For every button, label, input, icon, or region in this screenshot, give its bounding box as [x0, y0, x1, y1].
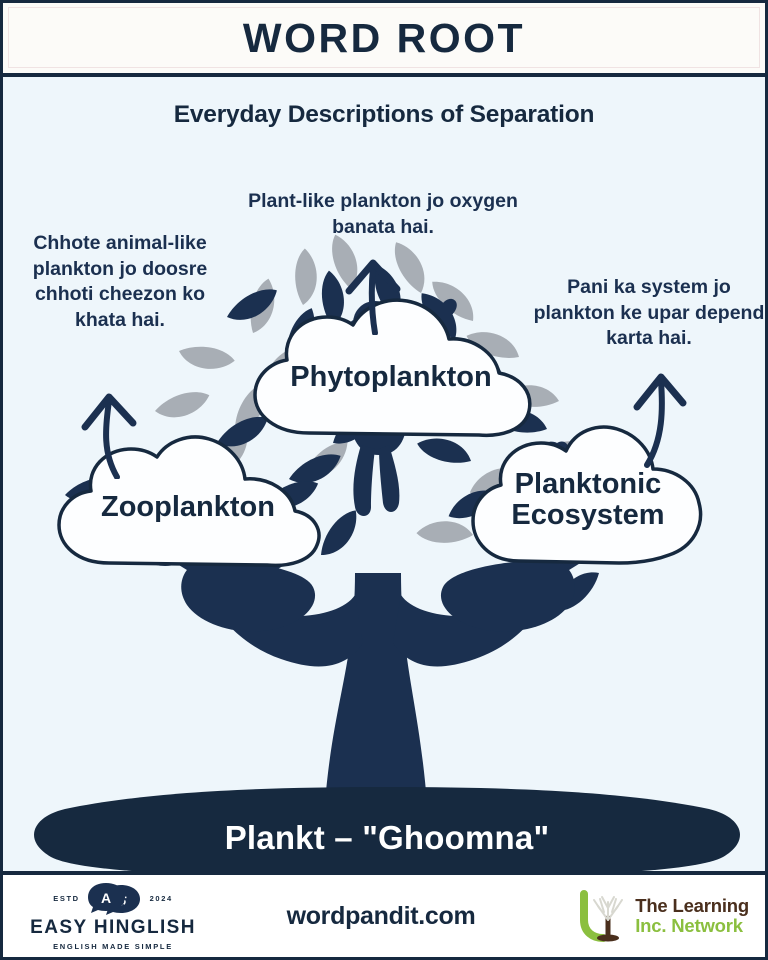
infographic-poster: WORD ROOT Everyday Descriptions of Separ…	[0, 0, 768, 960]
u-tree-icon	[578, 890, 628, 942]
arrow-up-icon	[65, 387, 169, 479]
arrow-up-icon	[335, 249, 443, 335]
footer-bar: ESTD क A 2024 EASY HINGLISH ENGLISH MADE…	[3, 871, 765, 957]
learning-inc-network-text: The Learning Inc. Network	[635, 896, 749, 936]
arrow-up-icon	[607, 369, 711, 469]
page-title: WORD ROOT	[243, 15, 525, 62]
learning-inc-network-logo: The Learning Inc. Network	[559, 890, 753, 942]
estd-label: ESTD	[53, 894, 79, 903]
subtitle: Everyday Descriptions of Separation	[3, 101, 765, 129]
header-bar: WORD ROOT	[3, 3, 765, 77]
learning-inc-network-line2: Inc. Network	[635, 916, 749, 936]
root-word-banner: Plankt – "Ghoomna"	[3, 785, 768, 877]
footer-website-url[interactable]: wordpandit.com	[287, 902, 476, 931]
bubble-latin-char: A	[101, 890, 111, 906]
root-word-text: Plankt – "Ghoomna"	[3, 785, 768, 877]
callout-zooplankton: Chhote animal-like plankton jo doosre ch…	[7, 231, 233, 334]
speech-bubbles-icon: क A	[88, 882, 142, 916]
estd-year: 2024	[150, 894, 173, 903]
learning-inc-network-line1: The Learning	[635, 896, 749, 916]
callout-planktonic-ecosystem: Pani ka system jo plankton ke upar depen…	[533, 275, 765, 352]
easy-hinglish-logo-top-row: ESTD क A 2024	[53, 882, 173, 916]
easy-hinglish-tagline: ENGLISH MADE SIMPLE	[53, 942, 173, 951]
callout-phytoplankton: Plant-like plankton jo oxygen banata hai…	[227, 189, 539, 240]
easy-hinglish-logo: ESTD क A 2024 EASY HINGLISH ENGLISH MADE…	[15, 882, 203, 951]
easy-hinglish-name: EASY HINGLISH	[30, 917, 196, 939]
